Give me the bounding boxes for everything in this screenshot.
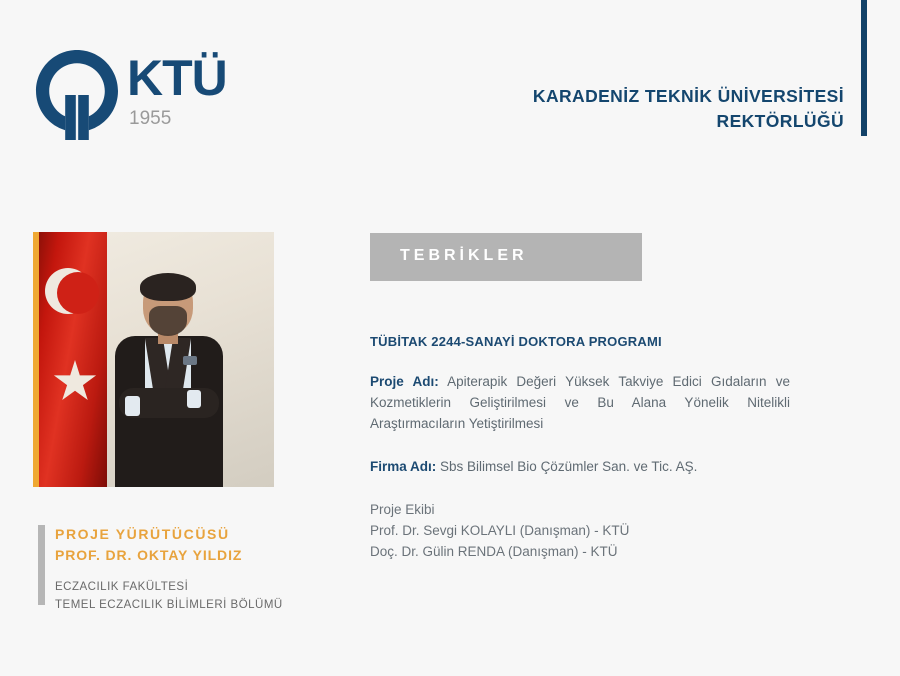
- turkish-flag: [39, 232, 107, 487]
- program-title: TÜBİTAK 2244-SANAYİ DOKTORA PROGRAMI: [370, 334, 790, 349]
- project-team-member: Doç. Dr. Gülin RENDA (Danışman) - KTÜ: [370, 541, 790, 562]
- ktu-ring-logo-icon: [34, 48, 120, 142]
- project-team-member: Prof. Dr. Sevgi KOLAYLI (Danışman) - KTÜ: [370, 520, 790, 541]
- ktu-wordmark-text: KTÜ: [127, 50, 227, 106]
- photo-gold-stripe: [33, 232, 39, 487]
- company-name-label: Firma Adı:: [370, 459, 436, 474]
- flag-crescent-inner: [57, 272, 99, 314]
- person-pocket-square: [183, 356, 197, 365]
- person-cuff-right: [187, 390, 201, 408]
- project-name-paragraph: Proje Adı: Apiterapik Değeri Yüksek Takv…: [370, 371, 790, 434]
- university-title-line2: REKTÖRLÜĞÜ: [324, 109, 844, 134]
- flag-star: [53, 360, 97, 404]
- ktu-logo: KTÜ 1955: [34, 46, 264, 142]
- congratulations-banner: TEBRİKLER: [370, 233, 642, 281]
- caption-faculty: ECZACILIK FAKÜLTESİ: [55, 578, 355, 596]
- person-caption: PROJE YÜRÜTÜCÜSÜ PROF. DR. OKTAY YILDIZ …: [55, 524, 355, 614]
- announcement-content: TÜBİTAK 2244-SANAYİ DOKTORA PROGRAMI Pro…: [370, 334, 790, 562]
- university-title-line1: KARADENİZ TEKNİK ÜNİVERSİTESİ: [324, 84, 844, 109]
- caption-department: TEMEL ECZACILIK BİLİMLERİ BÖLÜMÜ: [55, 596, 355, 614]
- project-team-label: Proje Ekibi: [370, 499, 790, 520]
- caption-role: PROJE YÜRÜTÜCÜSÜ: [55, 524, 355, 545]
- caption-accent-bar: [38, 525, 45, 605]
- person-cuff-left: [125, 396, 140, 416]
- person-photo: [33, 232, 274, 487]
- page-header: KTÜ 1955 KARADENİZ TEKNİK ÜNİVERSİTESİ R…: [0, 0, 900, 170]
- person-beard: [149, 306, 187, 336]
- person-hair: [140, 273, 196, 301]
- ktu-founding-year: 1955: [129, 108, 171, 130]
- project-team: Proje Ekibi Prof. Dr. Sevgi KOLAYLI (Dan…: [370, 499, 790, 562]
- congratulations-banner-label: TEBRİKLER: [400, 247, 528, 265]
- company-name-paragraph: Firma Adı: Sbs Bilimsel Bio Çözümler San…: [370, 456, 790, 477]
- ktu-wordmark: KTÜ 1955: [127, 50, 267, 140]
- company-name-value: Sbs Bilimsel Bio Çözümler San. ve Tic. A…: [440, 459, 697, 474]
- header-accent-bar: [861, 0, 867, 136]
- announcement-page: KTÜ 1955 KARADENİZ TEKNİK ÜNİVERSİTESİ R…: [0, 0, 900, 676]
- university-title: KARADENİZ TEKNİK ÜNİVERSİTESİ REKTÖRLÜĞÜ: [324, 84, 844, 134]
- project-name-label: Proje Adı:: [370, 374, 439, 389]
- caption-name: PROF. DR. OKTAY YILDIZ: [55, 545, 355, 566]
- person-figure: [105, 276, 235, 487]
